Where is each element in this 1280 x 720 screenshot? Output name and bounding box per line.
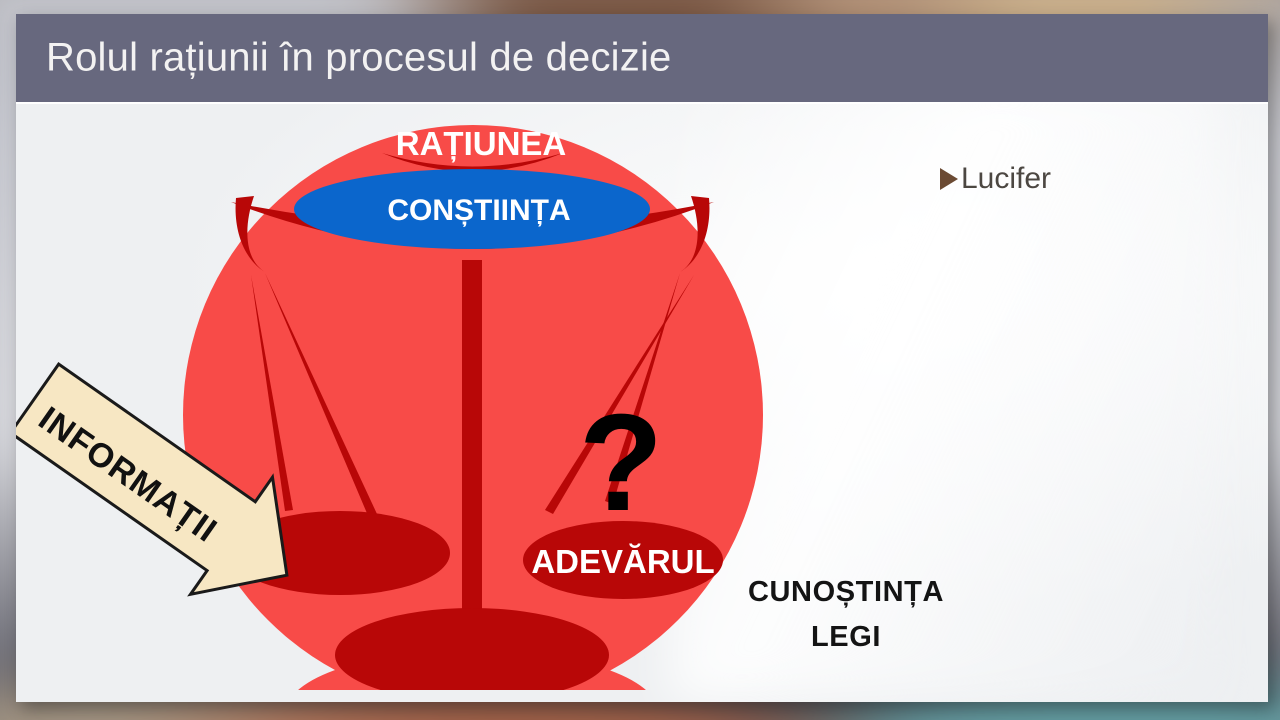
caption-line-2: LEGI (716, 615, 976, 660)
slide-content-area: Lucifer (16, 104, 1268, 702)
label-ratiunea: RAȚIUNEA (396, 125, 567, 162)
label-constiinta: CONȘTIINȚA (387, 194, 570, 227)
page-title: Rolul rațiunii în procesul de decizie (46, 36, 672, 81)
slide-viewer: Rolul rațiunii în procesul de decizie Lu… (0, 0, 1280, 720)
label-adevarul: ADEVĂRUL (531, 543, 714, 580)
question-mark-glyph: ? (579, 386, 663, 540)
bullet-item-label: Lucifer (961, 162, 1051, 196)
bullet-item-lucifer[interactable]: Lucifer (940, 162, 1051, 196)
slide-panel: Rolul rațiunii în procesul de decizie Lu… (16, 14, 1268, 702)
play-triangle-icon (940, 168, 958, 190)
caption-line-1: CUNOȘTINȚA (716, 570, 976, 615)
cunostinta-legi-caption: CUNOȘTINȚA LEGI (716, 570, 976, 660)
informatii-arrow: INFORMAȚII (38, 362, 368, 562)
slide-title-bar: Rolul rațiunii în procesul de decizie (16, 14, 1268, 102)
